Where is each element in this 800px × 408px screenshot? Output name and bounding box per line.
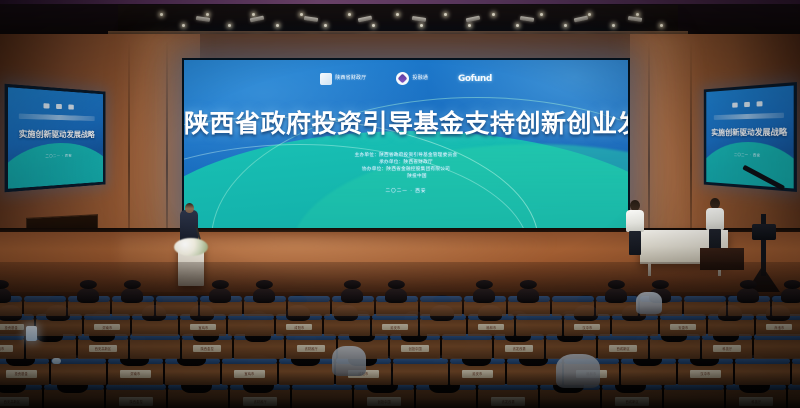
audience-seat [442, 338, 492, 359]
audience-member [605, 288, 627, 303]
face-mask [52, 358, 61, 364]
ceiling-spot-light [300, 13, 303, 16]
audience-member [473, 288, 495, 303]
sponsor-logo-row: 陕西省财政厅 投融通 Gofund [184, 72, 628, 85]
side-screen-right: 实施创新驱动发展战略 二〇二一 · 西安 [704, 82, 797, 192]
seat-back-trim [684, 296, 726, 302]
seat-placard: 汉中市 [574, 324, 600, 330]
audience-head [784, 280, 800, 289]
ceiling-spot-light [252, 13, 255, 16]
ceiling-spot-light [612, 24, 615, 27]
logo-mark [396, 72, 409, 85]
ceiling-spot-light [372, 24, 375, 27]
ceiling-spot-light [396, 13, 399, 16]
audience-head [0, 280, 8, 289]
seat-placard: 咸阳市 [286, 324, 312, 330]
audience-seat [288, 300, 330, 316]
seat-placard-label: 安康市 [678, 325, 688, 330]
audience-seat: 延安市 [372, 318, 418, 336]
seat-placard: 投资基金 [0, 324, 24, 330]
seat-placard-label: 渭南市 [102, 325, 112, 330]
audience-seat: 安康市 [660, 318, 706, 336]
ceiling-spot-light [492, 13, 495, 16]
ceiling-spot-light [160, 13, 163, 16]
ceiling-spot-light [444, 13, 447, 16]
side-screen-left-title: 实施创新驱动发展战略 [8, 128, 103, 140]
seat-placard-label: 商洛市 [774, 325, 784, 330]
ceiling-spot-light [564, 24, 567, 27]
audience-seat: 省财政厅 [286, 338, 336, 359]
side-screen-left-surface: 实施创新驱动发展战略 二〇二一 · 西安 [8, 87, 103, 189]
ceiling-spot-light [540, 13, 543, 16]
audience-seat [684, 300, 726, 316]
audience-member [517, 288, 539, 303]
seat-placard-label: 宝鸡市 [198, 325, 208, 330]
audience-head [476, 280, 492, 289]
audience-member [737, 288, 759, 303]
auditorium-scene: 陕西省财政厅 投融通 Gofund 陕西省政府投资引导基金支持创新创业发展论坛 … [0, 0, 800, 408]
side-wave [706, 141, 793, 188]
seat-placard-label: 科技厅 [722, 346, 732, 351]
audience-member [253, 288, 275, 303]
audience-seat [754, 338, 800, 359]
audience-head [124, 280, 140, 289]
organizer-line: 陕投中国 [407, 173, 427, 179]
seat-placard: 安康市 [670, 324, 696, 330]
crew-legs [629, 231, 641, 255]
audience-member [77, 288, 99, 303]
crew-shirt [706, 208, 724, 230]
ceiling-spot-light [588, 13, 591, 16]
audience-head [608, 280, 624, 289]
seat-placard: 商洛市 [766, 324, 792, 330]
bottom-fade [0, 372, 800, 408]
seat-back-trim [288, 296, 330, 302]
ceiling-spot-light [468, 24, 471, 27]
seat-placard: 渭南市 [94, 324, 120, 330]
side-accent-bar [19, 114, 95, 121]
seat-placard: 省财政厅 [297, 345, 325, 352]
ceiling-spot-light [516, 24, 519, 27]
ceiling-spot-light [636, 13, 639, 16]
ceiling-spot-light [276, 24, 279, 27]
seat-placard-label: 榆林市 [486, 325, 496, 330]
phone-screen-glow [26, 326, 37, 341]
seat-back-trim [552, 296, 594, 302]
seat-placard: 宝鸡市 [190, 324, 216, 330]
event-date: 二〇二一 · 西安 [184, 188, 628, 194]
audience-member [209, 288, 231, 303]
seat-placard-label: 延安市 [390, 325, 400, 330]
ceiling-spot-light [228, 24, 231, 27]
seat-placard: 西咸新区 [609, 345, 637, 352]
logo-cloud-wordmark-icon: Gofund [458, 74, 492, 84]
audience-light-shirt [636, 292, 662, 314]
seat-placard-label: 省发改委 [512, 346, 525, 351]
audience-head [80, 280, 96, 289]
forum-title: 陕西省政府投资引导基金支持创新创业发展论坛 [184, 104, 628, 140]
organizer-line: 协办单位：陕西省金融控股集团有限公司 [362, 166, 450, 172]
audience-seat [156, 300, 198, 316]
audience-head [388, 280, 404, 289]
side-logo-row [8, 101, 103, 111]
ceiling-spot-light [660, 24, 663, 27]
audience-seat: 西咸新区 [598, 338, 648, 359]
audience-seat [228, 318, 274, 336]
audience-seat [420, 300, 462, 316]
ceiling-spot-light [348, 13, 351, 16]
audience-seat: 商洛市 [0, 338, 24, 359]
logo-label: 投融通 [412, 76, 428, 82]
seat-placard: 商洛市 [0, 345, 13, 352]
ceiling-spot-light [182, 24, 185, 27]
seat-back-trim [420, 296, 462, 302]
audience-seat [552, 300, 594, 316]
audience-seat [130, 338, 180, 359]
audience-head [256, 280, 272, 289]
seat-placard: 省发改委 [505, 345, 533, 352]
main-led-screen: 陕西省财政厅 投融通 Gofund 陕西省政府投资引导基金支持创新创业发展论坛 … [182, 58, 630, 230]
logo-label: Gofund [458, 74, 492, 84]
seat-placard: 榆林市 [478, 324, 504, 330]
side-accent-bar [714, 113, 784, 120]
seat-placard: 陕西金控 [193, 345, 221, 352]
organizer-line: 主办单位：陕西省政府投资引导基金管理委员会 [355, 152, 458, 158]
audience-head [740, 280, 756, 289]
speaker-head [185, 203, 194, 213]
organizer-line: 承办单位：陕西省财政厅 [379, 159, 433, 165]
audience-member [341, 288, 363, 303]
podium-flower-arrangement [174, 238, 208, 256]
audience-seat [516, 318, 562, 336]
audience-member [385, 288, 407, 303]
logo-shaanxi-finance-icon: 陕西省财政厅 [320, 73, 366, 85]
seat-placard-label: 创投中国 [408, 346, 421, 351]
audience-member [781, 288, 800, 303]
organizer-lines: 主办单位：陕西省政府投资引导基金管理委员会承办单位：陕西省财政厅协办单位：陕西省… [184, 152, 628, 179]
audience-head [520, 280, 536, 289]
seat-placard-label: 汉中市 [582, 325, 592, 330]
seat-placard: 创投中国 [401, 345, 429, 352]
side-wave [8, 142, 103, 189]
ceiling-spot-light [206, 13, 209, 16]
camera-head [752, 224, 776, 240]
seat-back-trim [156, 296, 198, 302]
ceiling-spot-light [324, 24, 327, 27]
seat-placard: 延安市 [382, 324, 408, 330]
audience-head [212, 280, 228, 289]
seat-placard-label: 西咸新区 [616, 346, 629, 351]
logo-mark [320, 73, 332, 85]
audience-head [344, 280, 360, 289]
audience-member [0, 288, 11, 303]
seat-back-trim [24, 296, 66, 302]
side-screen-right-title: 实施创新驱动发展战略 [706, 127, 793, 139]
side-logo-row [706, 100, 793, 109]
logo-label: 陕西省财政厅 [335, 76, 366, 82]
logo-diamond-emblem-icon: 投融通 [396, 72, 428, 85]
seat-placard-label: 省财政厅 [304, 346, 317, 351]
seat-placard: 西安高新区 [89, 345, 117, 352]
audience-seat: 渭南市 [84, 318, 130, 336]
seat-placard-label: 投资基金 [4, 325, 17, 330]
seat-placard: 科技厅 [713, 345, 741, 352]
audience-member [121, 288, 143, 303]
crew-shirt [626, 210, 644, 232]
audience-head [652, 280, 668, 289]
ceiling-spot-light [420, 24, 423, 27]
seat-placard-label: 西安高新区 [95, 346, 112, 351]
seat-placard-label: 商洛市 [0, 346, 4, 351]
side-screen-left: 实施创新驱动发展战略 二〇二一 · 西安 [5, 84, 106, 193]
seat-placard-label: 咸阳市 [294, 325, 304, 330]
audience-seat [24, 300, 66, 316]
main-screen-surface: 陕西省财政厅 投融通 Gofund 陕西省政府投资引导基金支持创新创业发展论坛 … [184, 60, 628, 228]
seat-placard-label: 陕西金控 [200, 346, 213, 351]
